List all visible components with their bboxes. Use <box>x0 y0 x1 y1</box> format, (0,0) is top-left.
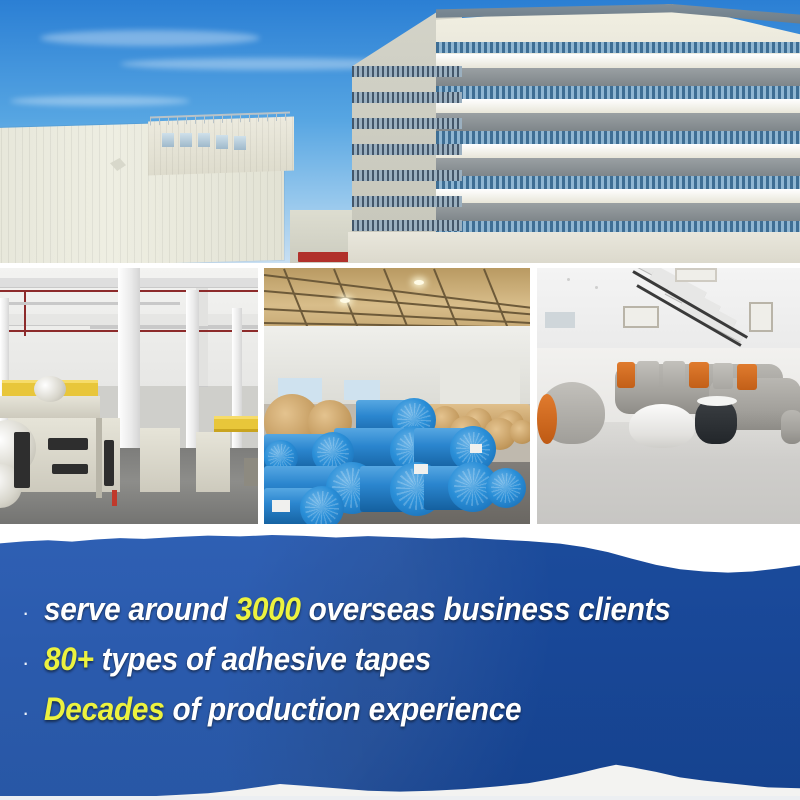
jumbo-roll-warehouse-photo <box>264 268 530 532</box>
main-office-building <box>340 4 800 263</box>
promo-collage-page: · serve around 3000 overseas business cl… <box>0 0 800 800</box>
highlight-text-1-pre: serve around <box>44 591 236 627</box>
highlight-text-1-post: overseas business clients <box>301 591 671 627</box>
bullet-icon: · <box>18 602 44 624</box>
list-item: · serve around 3000 overseas business cl… <box>0 588 800 630</box>
highlight-text-2: 80+ types of adhesive tapes <box>44 638 431 680</box>
company-building-exterior-photo <box>0 0 800 263</box>
highlight-text-1-accent: 3000 <box>236 591 301 627</box>
coating-production-line-photo <box>0 268 258 532</box>
bullet-icon: · <box>18 652 44 674</box>
photo-separator-vertical-2 <box>530 268 537 532</box>
highlight-text-2-post: types of adhesive tapes <box>94 641 431 677</box>
office-lobby-reception-photo <box>537 268 800 532</box>
highlight-text-2-accent: 80+ <box>44 641 94 677</box>
highlight-text-3: Decades of production experience <box>44 688 521 730</box>
highlight-text-3-accent: Decades <box>44 691 164 727</box>
highlights-banner: · serve around 3000 overseas business cl… <box>0 524 800 800</box>
photo-separator-vertical-1 <box>258 268 264 532</box>
highlight-text-3-post: of production experience <box>164 691 521 727</box>
photo-separator-horizontal <box>0 263 800 268</box>
highlights-list: · serve around 3000 overseas business cl… <box>0 588 800 738</box>
list-item: · 80+ types of adhesive tapes <box>0 638 800 680</box>
bullet-icon: · <box>18 702 44 724</box>
banner-bottom-line <box>0 796 800 800</box>
list-item: · Decades of production experience <box>0 688 800 730</box>
highlight-text-1: serve around 3000 overseas business clie… <box>44 588 671 630</box>
